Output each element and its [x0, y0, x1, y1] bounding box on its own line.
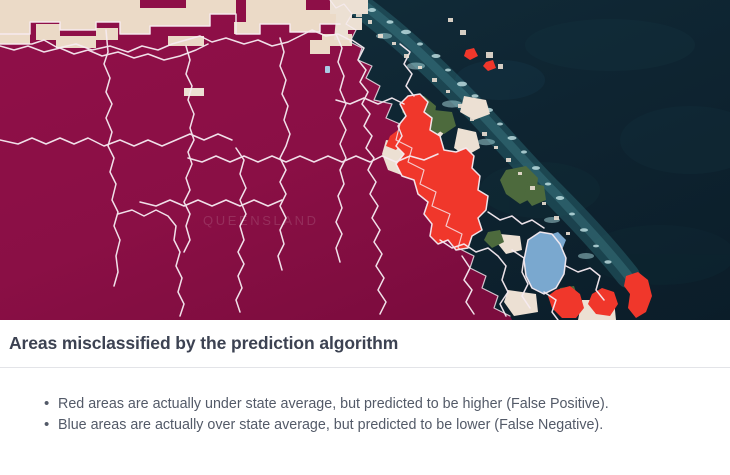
legend-notes-list: Red areas are actually under state avera…: [0, 394, 730, 436]
page-title: Areas misclassified by the prediction al…: [9, 333, 398, 354]
map-figure-container: QUEENSLAND Areas misclassified by the pr…: [0, 0, 730, 475]
list-item: Blue areas are actually over state avera…: [44, 415, 730, 436]
choropleth-map[interactable]: QUEENSLAND: [0, 0, 730, 320]
small-area-marker[interactable]: [325, 66, 330, 73]
legend-notes-panel: Red areas are actually under state avera…: [0, 368, 730, 475]
figure-title-bar: Areas misclassified by the prediction al…: [0, 320, 730, 367]
map-canvas[interactable]: [0, 0, 730, 320]
list-item: Red areas are actually under state avera…: [44, 394, 730, 415]
